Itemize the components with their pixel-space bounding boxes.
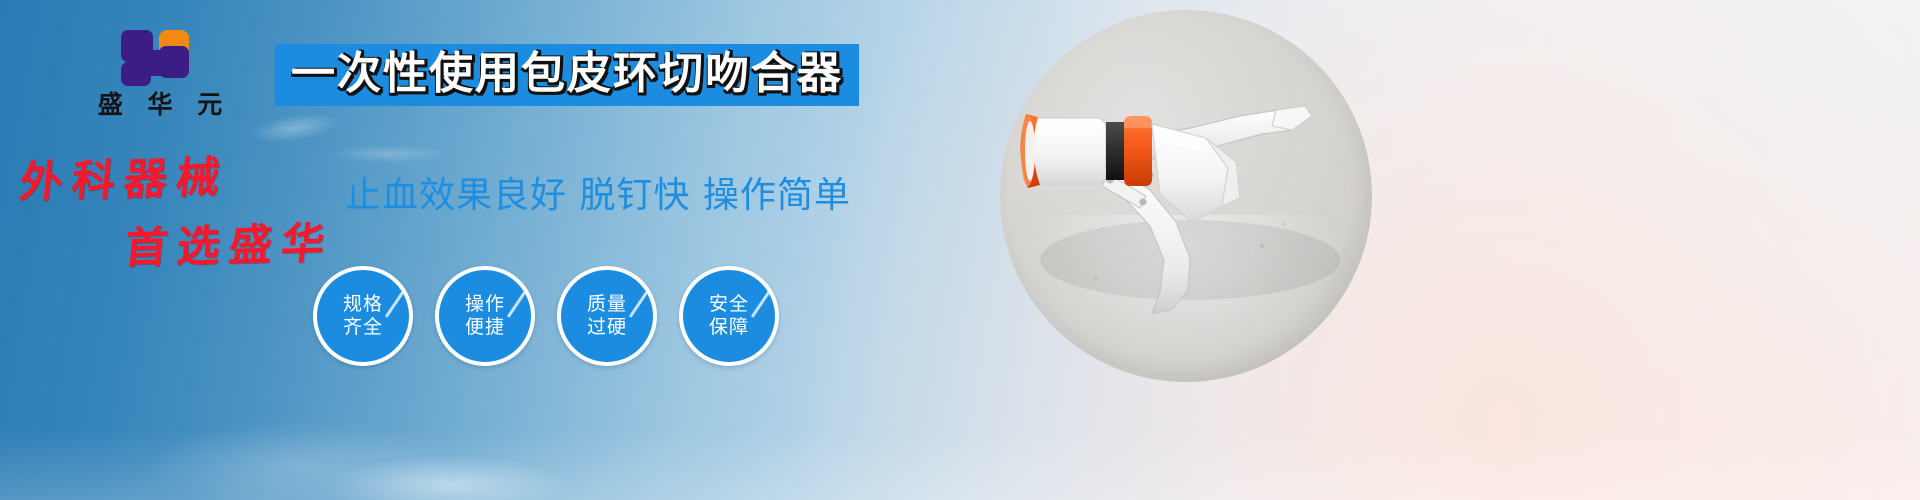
badge-line-1: 操作 bbox=[465, 293, 505, 316]
slash-icon bbox=[385, 288, 406, 318]
badge-line-2: 便捷 bbox=[465, 316, 505, 339]
slash-icon bbox=[751, 288, 772, 318]
badge-line-1: 安全 bbox=[709, 293, 749, 316]
slash-icon bbox=[507, 288, 528, 318]
product-stapler-illustration bbox=[1000, 10, 1372, 382]
headline-banner: 一次性使用包皮环切吻合器 bbox=[275, 44, 859, 106]
feature-badge-operation[interactable]: 操作 便捷 bbox=[435, 266, 535, 366]
feature-badge-safety[interactable]: 安全 保障 bbox=[679, 266, 779, 366]
badge-line-2: 过硬 bbox=[587, 316, 627, 339]
brand-logo[interactable]: 盛 华 元 bbox=[60, 30, 260, 125]
background-wisp bbox=[330, 455, 570, 500]
badge-line-1: 质量 bbox=[587, 293, 627, 316]
badge-line-2: 保障 bbox=[709, 316, 749, 339]
logo-block-bottom-left bbox=[121, 62, 151, 86]
product-image[interactable] bbox=[1000, 10, 1372, 382]
promo-banner: 盛 华 元 一次性使用包皮环切吻合器 外科器械 首选盛华 止血效果良好 脱钉快 … bbox=[0, 0, 1920, 500]
feature-badge-quality[interactable]: 质量 过硬 bbox=[557, 266, 657, 366]
headline-text: 一次性使用包皮环切吻合器 bbox=[291, 50, 843, 98]
bottom-fade-overlay bbox=[0, 430, 1920, 500]
background-wisp bbox=[150, 420, 450, 500]
calligraphy-line-1: 外科器械 bbox=[17, 139, 354, 210]
badge-line-2: 齐全 bbox=[343, 316, 383, 339]
feature-badge-specifications[interactable]: 规格 齐全 bbox=[313, 266, 413, 366]
logo-mark-icon bbox=[121, 30, 199, 86]
brand-name-text: 盛 华 元 bbox=[60, 92, 260, 118]
calligraphy-slogan: 外科器械 首选盛华 bbox=[20, 148, 350, 258]
badge-line-1: 规格 bbox=[343, 293, 383, 316]
feature-tagline: 止血效果良好 脱钉快 操作简单 bbox=[345, 166, 851, 218]
feature-badge-list: 规格 齐全 操作 便捷 质量 过硬 安全 保障 bbox=[313, 266, 779, 366]
logo-block-bottom-right bbox=[159, 46, 189, 78]
slash-icon bbox=[629, 288, 650, 318]
